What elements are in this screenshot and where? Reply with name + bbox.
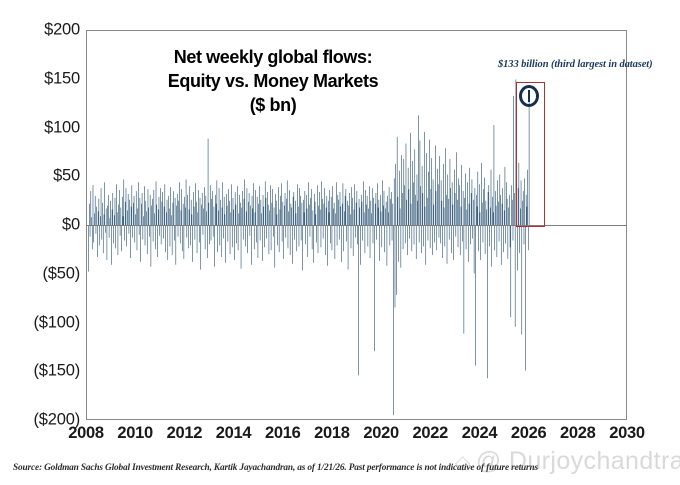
bar <box>305 225 306 244</box>
bar <box>410 133 411 225</box>
bar <box>483 189 484 225</box>
bar <box>236 205 237 225</box>
bar <box>477 207 478 225</box>
bar <box>306 195 307 225</box>
bar <box>493 212 494 225</box>
bar <box>279 225 280 252</box>
bar <box>390 199 391 225</box>
bar <box>173 203 174 225</box>
bar <box>233 198 234 225</box>
bar <box>502 204 503 225</box>
bar <box>351 225 352 248</box>
bar <box>376 225 377 240</box>
bar <box>189 186 190 225</box>
bar <box>472 179 473 225</box>
bar <box>176 225 177 265</box>
bar <box>423 193 424 225</box>
bar <box>422 166 423 225</box>
bar <box>489 185 490 225</box>
bar <box>334 203 335 225</box>
bar <box>324 188 325 225</box>
bar <box>97 225 98 257</box>
bar <box>156 205 157 225</box>
bar <box>382 180 383 225</box>
bar <box>399 171 400 225</box>
bar <box>403 225 404 249</box>
bar <box>92 225 93 249</box>
bar <box>280 209 281 225</box>
bar <box>418 115 419 225</box>
bar <box>269 225 270 254</box>
bar <box>495 191 496 225</box>
bar <box>157 225 158 257</box>
bar <box>492 197 493 225</box>
y-axis-labels: $200$150$100$50$0($50)($100)($150)($200) <box>0 30 80 420</box>
bar <box>151 206 152 225</box>
bar <box>261 213 262 225</box>
bar <box>436 225 437 250</box>
bar <box>479 184 480 225</box>
bar <box>227 206 228 225</box>
bar <box>226 194 227 225</box>
bar <box>221 225 222 257</box>
bar <box>352 198 353 225</box>
bar <box>433 179 434 225</box>
bar <box>302 203 303 225</box>
bar <box>143 225 144 240</box>
bar <box>206 196 207 225</box>
y-axis-tick-label: ($100) <box>34 313 81 332</box>
bar <box>508 208 509 225</box>
bar <box>91 191 92 225</box>
bar <box>264 225 265 247</box>
bar <box>112 209 113 225</box>
bar <box>363 181 364 225</box>
bar <box>130 225 131 258</box>
bar <box>102 225 103 240</box>
bar <box>192 214 193 225</box>
bar <box>508 225 509 259</box>
bar <box>153 225 154 241</box>
bar <box>348 225 349 270</box>
bar <box>524 225 525 244</box>
bar <box>138 182 139 225</box>
bar <box>291 204 292 225</box>
bar <box>91 217 92 225</box>
bar <box>371 213 372 225</box>
bar <box>342 204 343 225</box>
bar <box>398 197 399 225</box>
bar <box>311 189 312 225</box>
bar <box>370 225 371 258</box>
bar <box>101 188 102 225</box>
bar <box>121 208 122 225</box>
bar <box>231 212 232 225</box>
bar <box>135 214 136 225</box>
bar <box>350 214 351 225</box>
bar <box>398 225 399 262</box>
bar <box>360 225 361 265</box>
bar <box>140 198 141 225</box>
bar <box>371 201 372 225</box>
bar <box>100 216 101 225</box>
bar <box>140 225 141 262</box>
bar <box>487 225 488 378</box>
bar <box>472 225 473 239</box>
bar <box>247 225 248 253</box>
bar <box>309 205 310 225</box>
bar <box>332 225 333 250</box>
bar <box>116 184 117 225</box>
bar <box>294 225 295 240</box>
bar <box>442 225 443 258</box>
bar <box>267 192 268 225</box>
bar <box>164 207 165 225</box>
bar <box>269 210 270 225</box>
bar <box>209 203 210 225</box>
bar <box>141 204 142 225</box>
bar <box>193 192 194 225</box>
bar <box>341 225 342 262</box>
bar <box>265 181 266 225</box>
bar <box>272 189 273 225</box>
bar <box>360 208 361 225</box>
bar <box>274 225 275 268</box>
bar <box>242 208 243 225</box>
bar <box>347 201 348 225</box>
bar <box>268 205 269 225</box>
bar <box>129 225 130 234</box>
bar <box>212 191 213 225</box>
bar-series <box>88 80 529 416</box>
bar <box>292 225 293 264</box>
bar <box>411 204 412 225</box>
bar <box>528 225 529 250</box>
bar <box>475 225 476 366</box>
bar <box>285 225 286 238</box>
bar <box>372 188 373 225</box>
bar <box>476 195 477 225</box>
bar <box>482 203 483 225</box>
bar <box>184 225 185 259</box>
bar <box>286 199 287 225</box>
bar <box>339 225 340 240</box>
x-axis-tick-label: 2016 <box>265 424 301 443</box>
bar <box>467 209 468 225</box>
bar <box>512 200 513 225</box>
bar <box>336 182 337 225</box>
y-axis-tick-label: $150 <box>44 69 80 88</box>
bar <box>255 190 256 225</box>
bar <box>163 225 164 239</box>
bar <box>447 225 448 264</box>
bar <box>277 214 278 225</box>
bar <box>405 225 406 243</box>
bar <box>310 198 311 225</box>
bar <box>256 225 257 242</box>
bar <box>505 167 506 225</box>
bar <box>300 196 301 225</box>
bar <box>293 197 294 225</box>
bar <box>132 225 133 238</box>
bar <box>473 200 474 225</box>
bar <box>427 198 428 225</box>
bar <box>205 225 206 249</box>
bar <box>344 211 345 225</box>
bar <box>200 198 201 225</box>
bar <box>303 200 304 225</box>
bar <box>261 200 262 225</box>
bar <box>340 192 341 225</box>
bar <box>511 185 512 225</box>
bar <box>494 225 495 250</box>
bar <box>451 225 452 253</box>
bar <box>391 192 392 225</box>
bar <box>295 201 296 225</box>
bar <box>456 225 457 237</box>
bar <box>186 179 187 225</box>
bar <box>474 225 475 274</box>
bar <box>503 225 504 252</box>
bar <box>488 192 489 225</box>
bar <box>255 212 256 225</box>
bar <box>349 193 350 225</box>
bar <box>237 186 238 225</box>
bar <box>99 225 100 245</box>
bar <box>464 225 465 334</box>
bar <box>114 215 115 225</box>
bar <box>386 202 387 225</box>
bar <box>288 225 289 248</box>
bar <box>271 225 272 250</box>
bar <box>450 188 451 225</box>
bar <box>417 175 418 225</box>
bar <box>196 202 197 225</box>
bar <box>253 183 254 225</box>
chart-title-line: Equity vs. Money Markets <box>118 70 428 94</box>
bar <box>118 225 119 255</box>
bar <box>145 201 146 225</box>
bar <box>387 225 388 266</box>
bar <box>458 178 459 225</box>
bar <box>188 225 189 248</box>
bar <box>402 193 403 225</box>
bar <box>182 225 183 251</box>
bar <box>500 195 501 225</box>
bar <box>96 225 97 234</box>
bar <box>354 209 355 225</box>
bar <box>436 191 437 225</box>
bar <box>245 225 246 246</box>
bar <box>277 225 278 245</box>
bar <box>307 209 308 225</box>
bar <box>428 172 429 225</box>
bar <box>443 164 444 225</box>
bar <box>151 225 152 267</box>
bar <box>331 197 332 225</box>
bar <box>197 225 198 253</box>
x-axis-tick-label: 2010 <box>117 424 153 443</box>
bar <box>147 225 148 254</box>
bar <box>505 225 506 243</box>
bar <box>367 196 368 225</box>
bar <box>406 200 407 225</box>
bar <box>486 201 487 225</box>
bar <box>338 200 339 225</box>
bar <box>282 225 283 241</box>
bar <box>144 186 145 225</box>
bar <box>200 225 201 270</box>
bar <box>312 225 313 249</box>
bar <box>314 194 315 225</box>
bar <box>259 186 260 225</box>
bar <box>93 185 94 225</box>
bar <box>115 225 116 248</box>
x-axis-tick-label: 2022 <box>413 424 449 443</box>
bar <box>194 207 195 225</box>
bar <box>242 191 243 225</box>
bar <box>289 190 290 225</box>
bar <box>407 225 408 255</box>
bar <box>313 225 314 263</box>
bar <box>374 225 375 351</box>
bar <box>461 165 462 225</box>
bar <box>415 195 416 225</box>
bar <box>462 225 463 241</box>
x-axis-tick-label: 2008 <box>68 424 104 443</box>
bar <box>291 208 292 225</box>
bar <box>263 207 264 225</box>
bar <box>155 225 156 249</box>
bar <box>458 225 459 247</box>
bar <box>502 188 503 225</box>
bar <box>235 192 236 225</box>
bar <box>325 225 326 255</box>
bar <box>263 195 264 225</box>
bar <box>395 225 396 307</box>
bar <box>439 225 440 238</box>
bar <box>447 175 448 225</box>
bar <box>355 225 356 238</box>
bar <box>243 225 244 240</box>
bar <box>117 212 118 225</box>
bar <box>431 189 432 225</box>
bar <box>177 194 178 225</box>
bar <box>434 225 435 242</box>
bar <box>318 225 319 253</box>
bar <box>327 225 328 266</box>
bar <box>506 182 507 225</box>
bar <box>480 225 481 260</box>
bar <box>198 212 199 225</box>
bar <box>380 195 381 225</box>
bar <box>131 207 132 225</box>
bar <box>133 203 134 225</box>
bar <box>215 195 216 225</box>
bar <box>139 225 140 235</box>
bar <box>414 149 415 225</box>
bar <box>349 206 350 225</box>
bar <box>240 203 241 225</box>
bar <box>124 225 125 241</box>
bar <box>332 186 333 225</box>
bar <box>104 214 105 225</box>
bar <box>150 195 151 225</box>
bar <box>228 189 229 225</box>
bar <box>491 170 492 225</box>
bar <box>288 211 289 225</box>
bar <box>187 225 188 238</box>
bar <box>128 194 129 225</box>
bar <box>333 209 334 225</box>
bar <box>169 209 170 225</box>
bar <box>346 189 347 225</box>
bar <box>321 181 322 225</box>
bar <box>160 188 161 225</box>
bar <box>198 190 199 225</box>
bar <box>514 193 515 225</box>
bar <box>478 225 479 251</box>
bar <box>445 225 446 246</box>
bar <box>232 225 233 247</box>
bar <box>453 225 454 260</box>
bar <box>233 209 234 225</box>
bar <box>461 207 462 225</box>
bar <box>406 144 407 225</box>
bar <box>175 198 176 225</box>
bar <box>104 182 105 225</box>
bar <box>154 213 155 225</box>
x-axis-tick-label: 2018 <box>314 424 350 443</box>
y-axis-tick-label: $100 <box>44 118 80 137</box>
bar <box>98 211 99 225</box>
bar <box>513 96 514 225</box>
chart-title-line: Net weekly global flows: <box>118 46 428 70</box>
bar <box>335 225 336 259</box>
bar <box>395 164 396 225</box>
bar <box>383 206 384 225</box>
x-axis-tick-label: 2030 <box>609 424 645 443</box>
bar <box>202 193 203 225</box>
bar <box>486 209 487 225</box>
bar <box>123 216 124 225</box>
bar <box>266 198 267 225</box>
bar <box>181 210 182 225</box>
bar <box>287 180 288 225</box>
bar <box>118 205 119 225</box>
bar <box>270 185 271 225</box>
bar <box>368 225 369 246</box>
y-axis-tick-label: $50 <box>53 167 80 186</box>
bar <box>429 140 430 225</box>
bar <box>238 225 239 250</box>
bar <box>185 208 186 225</box>
bar <box>298 207 299 225</box>
bar <box>181 189 182 225</box>
bar <box>328 201 329 225</box>
bar <box>419 225 420 242</box>
bar <box>456 152 457 225</box>
bar <box>354 184 355 225</box>
bar <box>284 206 285 225</box>
bar <box>466 225 467 249</box>
bar <box>173 191 174 225</box>
bar <box>266 225 267 239</box>
bar <box>475 188 476 225</box>
peak-circle-marker <box>519 85 539 107</box>
bar <box>373 225 374 243</box>
bar <box>220 200 221 225</box>
